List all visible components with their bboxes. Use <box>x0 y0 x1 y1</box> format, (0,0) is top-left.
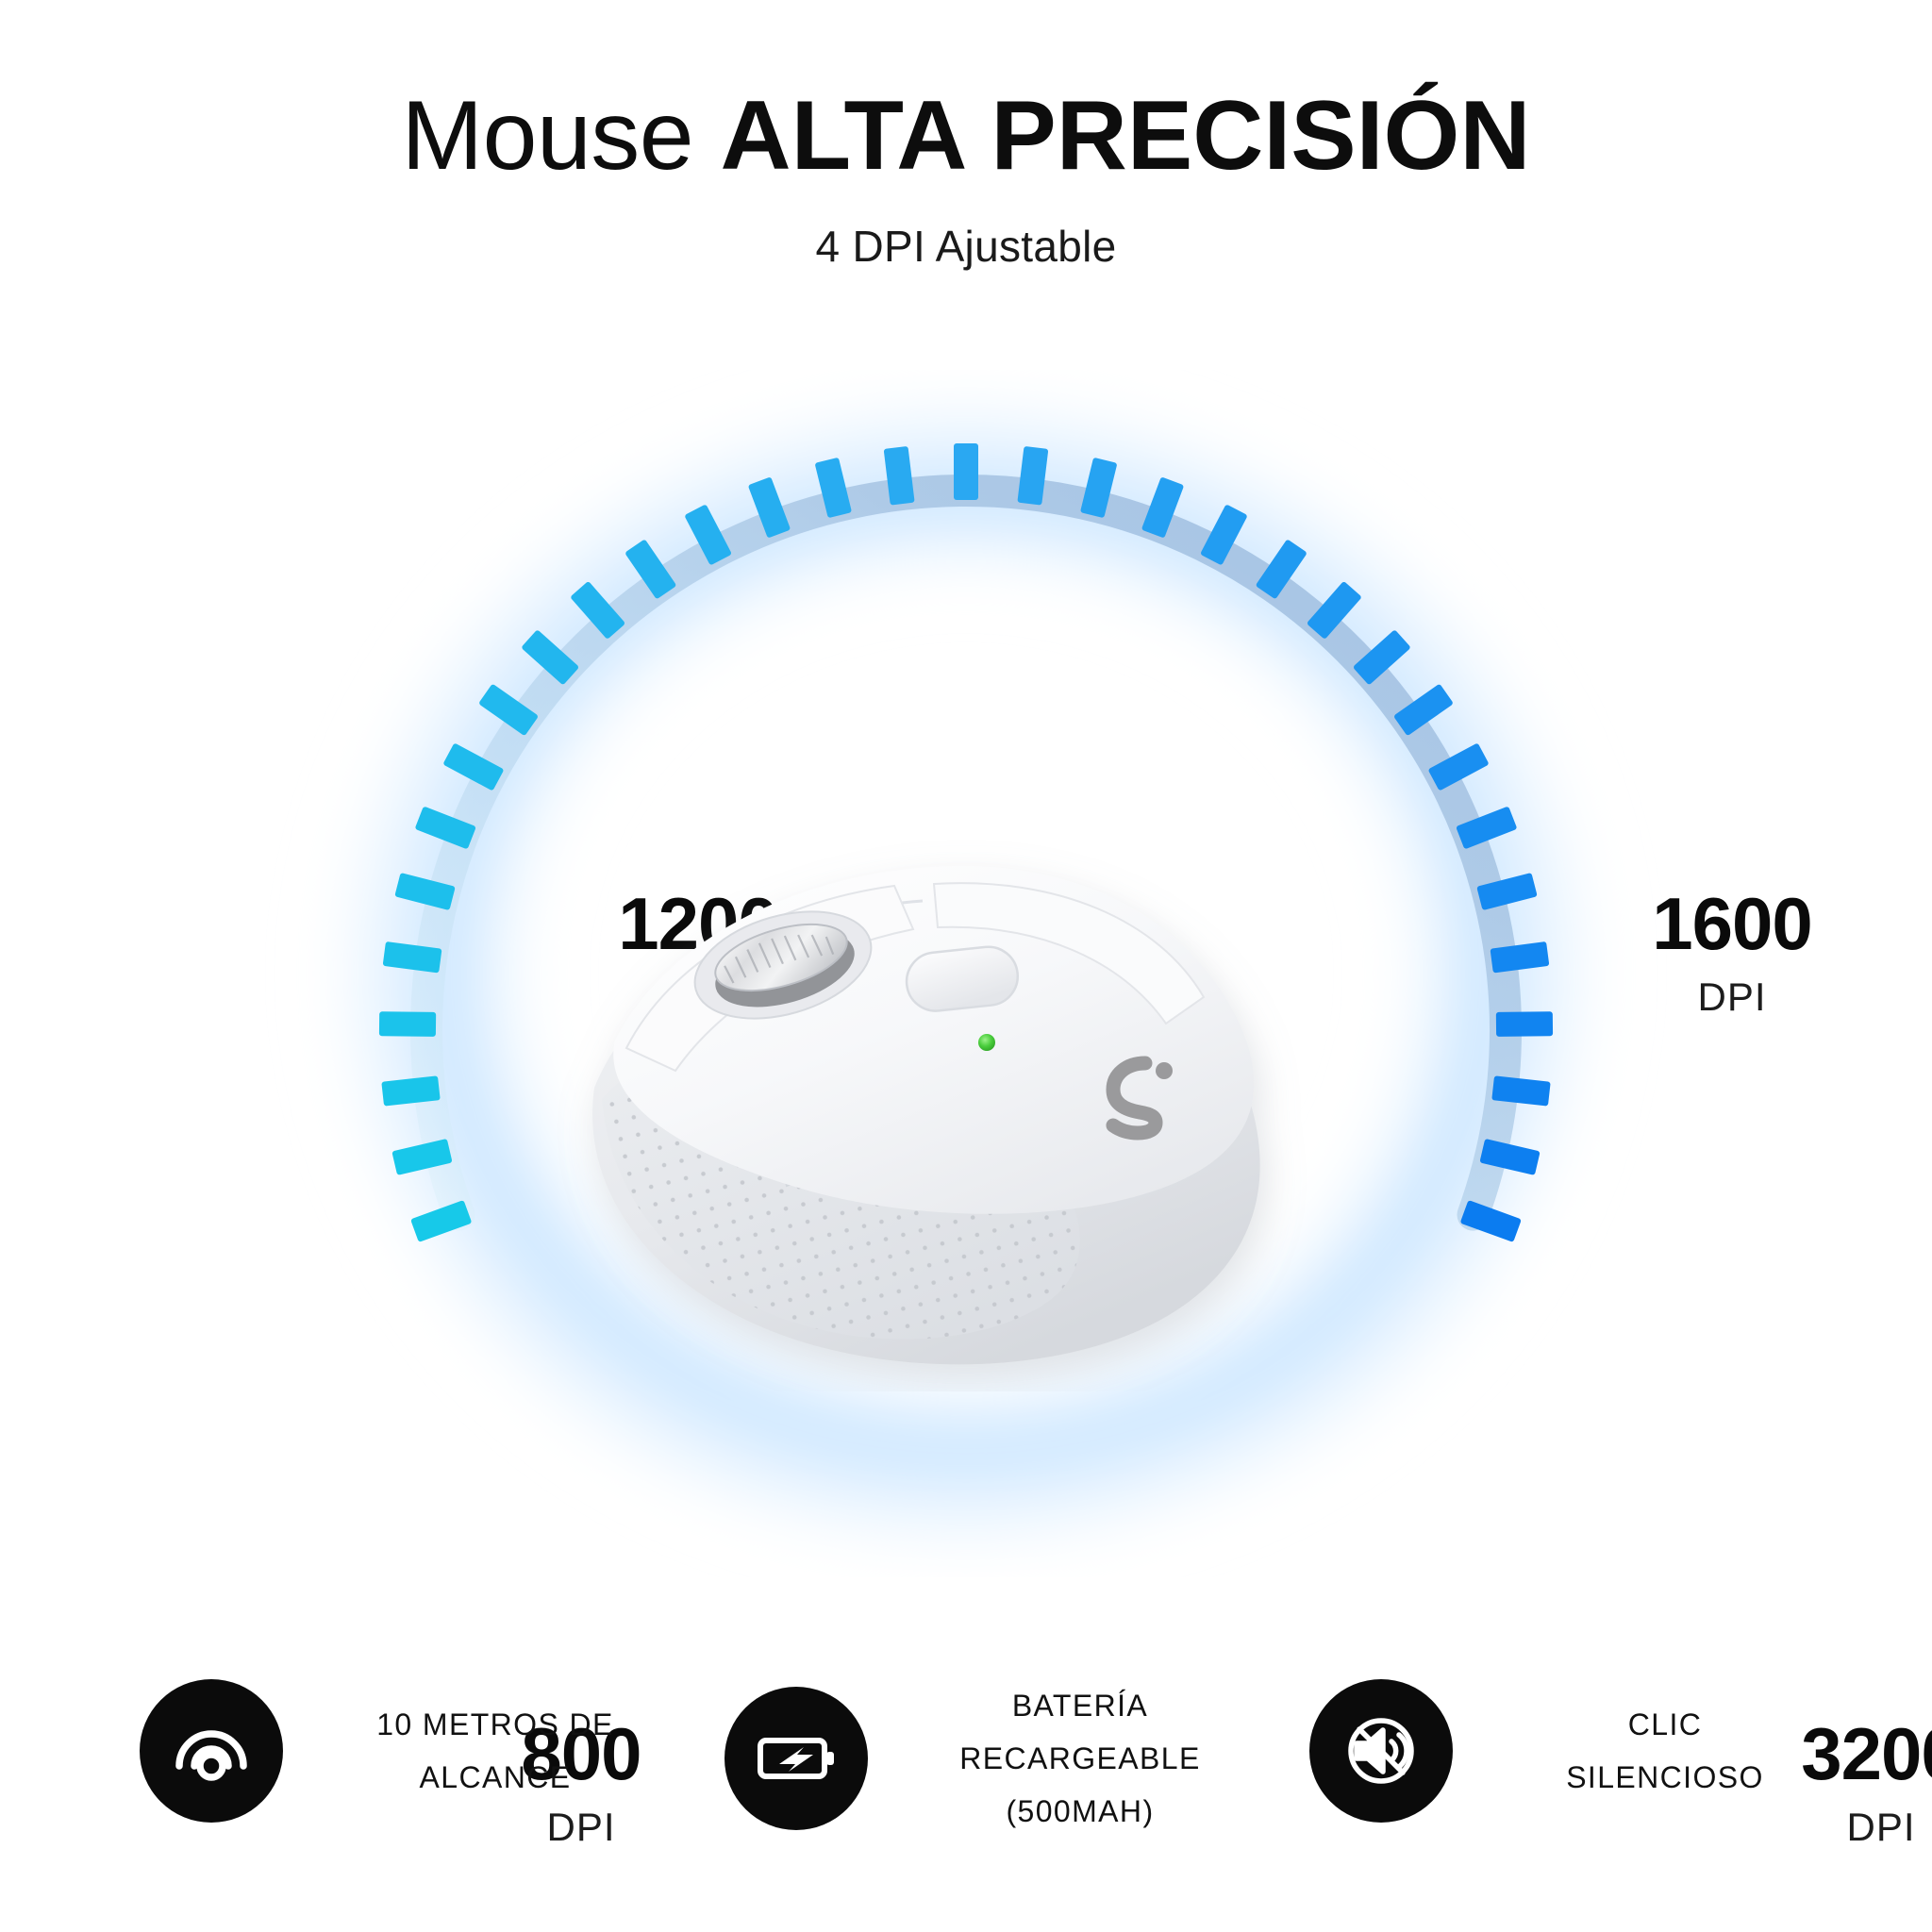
dpi-unit: DPI <box>1600 977 1864 1017</box>
gauge-tick <box>379 1011 436 1037</box>
feature-line: RECARGEABLE <box>902 1732 1258 1785</box>
page-subtitle: 4 DPI Ajustable <box>0 189 1932 272</box>
feature-silent-click: CLIC SILENCIOSO <box>1258 1679 1843 1823</box>
feature-line: ALCANCE <box>317 1751 674 1804</box>
feature-line: 10 METROS DE <box>317 1698 674 1751</box>
feature-line: (500MAH) <box>902 1785 1258 1838</box>
feature-line: SILENCIOSO <box>1487 1751 1843 1804</box>
feature-line: CLIC <box>1487 1698 1843 1751</box>
dpi-label-1600: 1600 DPI <box>1600 887 1864 1017</box>
mouse-graphic <box>528 788 1340 1391</box>
battery-charging-icon <box>724 1687 868 1830</box>
infographic-canvas: Mouse ALTA PRECISIÓN 4 DPI Ajustable <box>0 0 1932 1932</box>
feature-line: BATERÍA <box>902 1679 1258 1732</box>
mouse-body-group <box>585 866 1260 1382</box>
gauge-tick <box>954 443 978 500</box>
feature-list: 10 METROS DE ALCANCE BATERÍA RECARGEABLE… <box>0 1679 1932 1838</box>
muted-speaker-icon <box>1309 1679 1453 1823</box>
feature-battery: BATERÍA RECARGEABLE (500MAH) <box>674 1679 1258 1838</box>
page-title: Mouse ALTA PRECISIÓN <box>0 0 1932 189</box>
wireless-signal-icon <box>140 1679 283 1823</box>
header: Mouse ALTA PRECISIÓN 4 DPI Ajustable <box>0 0 1932 272</box>
feature-silent-click-text: CLIC SILENCIOSO <box>1487 1698 1843 1804</box>
feature-range: 10 METROS DE ALCANCE <box>89 1679 674 1823</box>
feature-range-text: 10 METROS DE ALCANCE <box>317 1698 674 1804</box>
title-light-part: Mouse <box>401 81 720 191</box>
dpi-value: 1600 <box>1600 887 1864 960</box>
title-strong-part: ALTA PRECISIÓN <box>721 81 1531 191</box>
product-image-mouse <box>528 788 1340 1391</box>
feature-battery-text: BATERÍA RECARGEABLE (500MAH) <box>902 1679 1258 1838</box>
gauge-tick <box>1496 1011 1553 1037</box>
status-led-indicator <box>978 1034 995 1051</box>
